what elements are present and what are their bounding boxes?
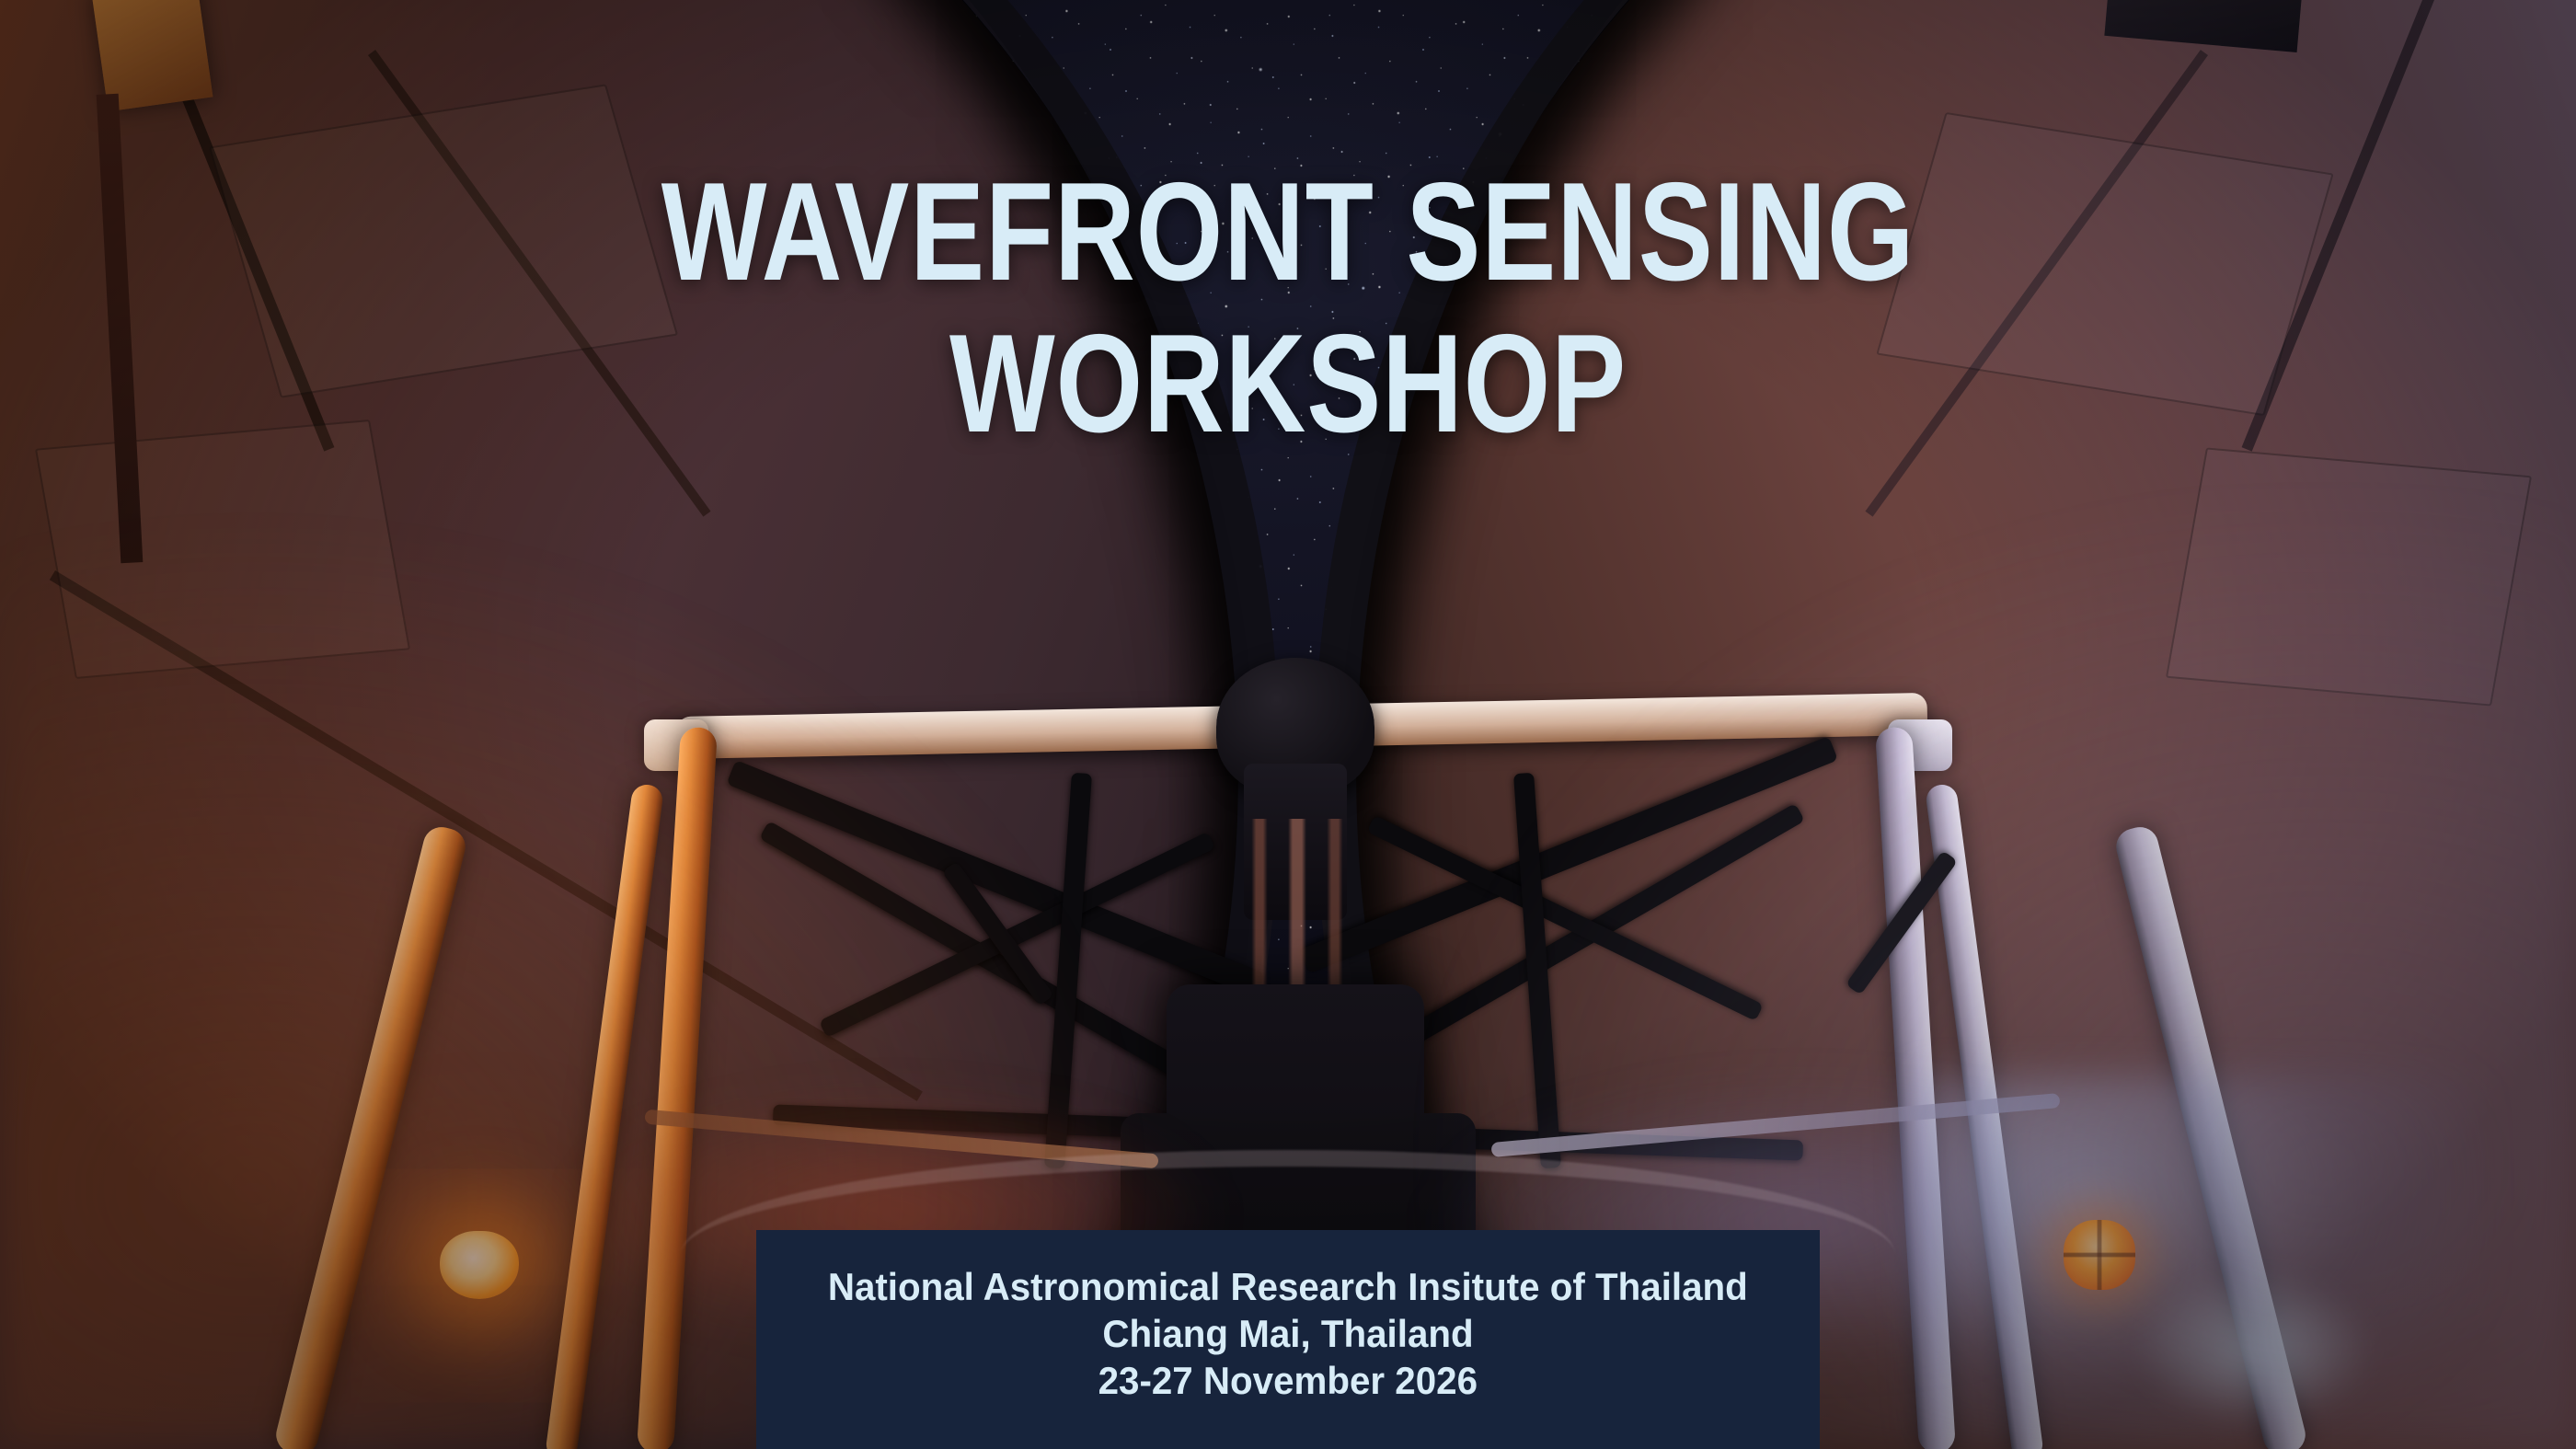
location-line: Chiang Mai, Thailand (1102, 1310, 1473, 1357)
poster-title: WAVEFRONT SENSING WORKSHOP (258, 164, 2318, 453)
title-line-2: WORKSHOP (258, 316, 2318, 453)
title-line-1: WAVEFRONT SENSING (661, 154, 1915, 310)
venue-info-box: National Astronomical Research Insitute … (756, 1230, 1820, 1449)
dates-line: 23-27 November 2026 (1098, 1357, 1478, 1404)
poster-canvas: WAVEFRONT SENSING WORKSHOP National Astr… (0, 0, 2576, 1449)
organization-line: National Astronomical Research Insitute … (828, 1263, 1748, 1310)
